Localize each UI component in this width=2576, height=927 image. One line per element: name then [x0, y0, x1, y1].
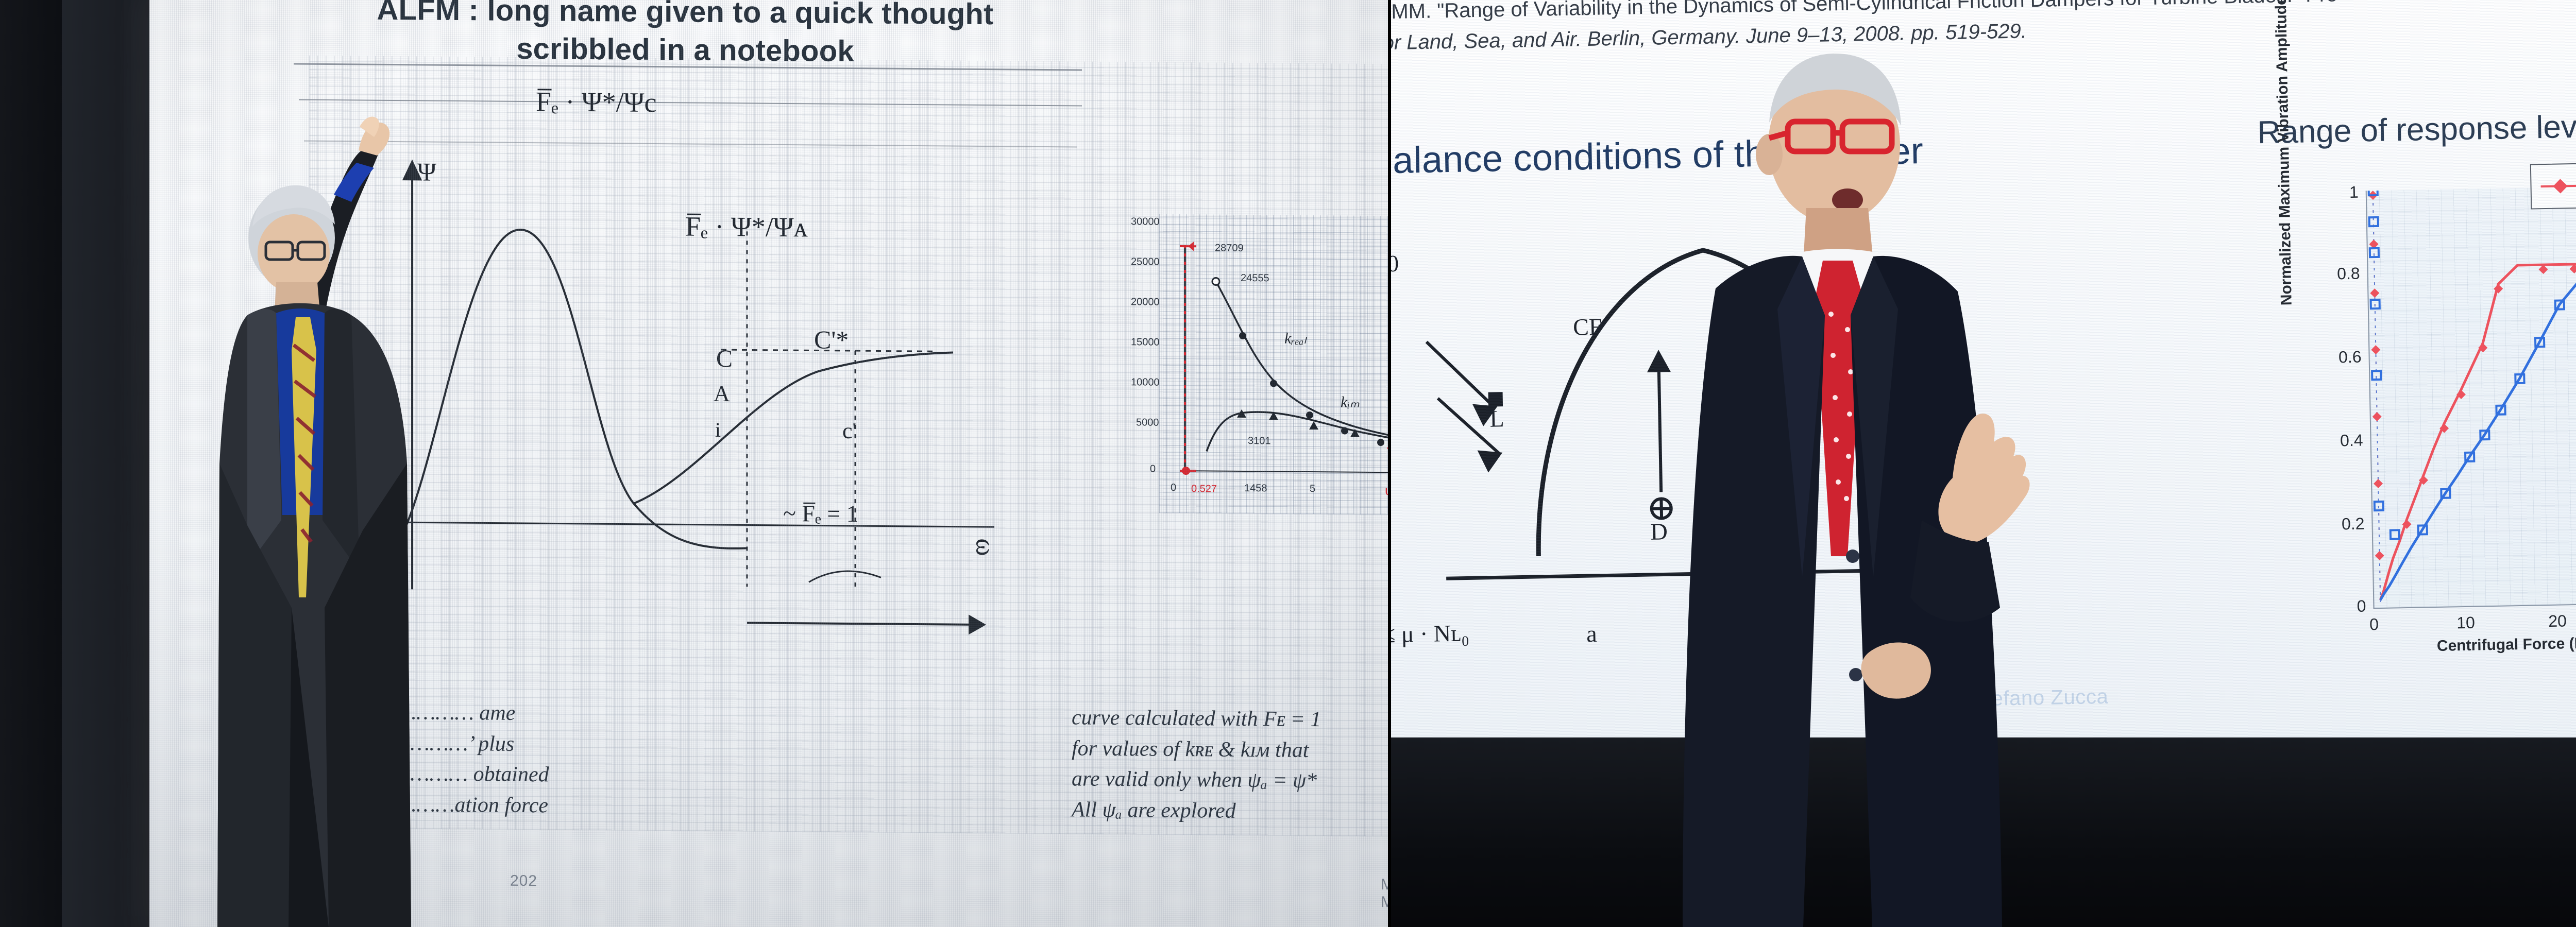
chart-xtick-20: 20 — [2539, 611, 2576, 631]
chart-ytick-1: 1 — [2314, 183, 2359, 203]
chart-ytick-0-4: 0.4 — [2318, 431, 2363, 451]
diagram-label-nlo: L0 — [1391, 250, 1399, 278]
response-range-chart: Normalized Maximum Vibration Amplitude C… — [2274, 168, 2576, 697]
left-wall-panel — [62, 0, 149, 927]
chart-xtick-10: 10 — [2448, 613, 2484, 632]
chart-ytick-0-6: 0.6 — [2317, 348, 2362, 368]
legend-marker-equation-2 — [2541, 185, 2576, 187]
chart-ytick-0: 0 — [2321, 597, 2366, 617]
chart-x-axis-label: Centrifugal Force (N) — [2437, 635, 2576, 655]
right-scene: la, MM. "Range of Variability in the Dyn… — [1391, 0, 2576, 927]
diagram-label-l: L — [1489, 405, 1504, 433]
chart-y-axis-label: Normalized Maximum Vibration Amplitude — [2273, 0, 2296, 306]
presentation-photo-composite: ALFM : long name given to a quick though… — [0, 0, 2576, 927]
left-scene: ALFM : long name given to a quick though… — [0, 0, 1391, 927]
chart-ytick-0-8: 0.8 — [2315, 264, 2360, 284]
chart-ytick-0-2: 0.2 — [2320, 514, 2365, 535]
slide-heading-right: Range of response levels — [2257, 108, 2576, 151]
diagram-inequality: ≤ μ · Nʟ₀ — [1391, 619, 1469, 648]
chart-plot-area: 0.15 0.1 0.05 0 1 Equation (2) Equation … — [2366, 184, 2576, 609]
speaker-left-figure — [170, 0, 489, 927]
chart-legend: Equation (2) Equation (3) — [2530, 158, 2576, 209]
chart-xtick-0: 0 — [2356, 615, 2393, 634]
speaker-right-figure — [1561, 0, 2107, 927]
chart-series-svg — [2367, 184, 2576, 608]
